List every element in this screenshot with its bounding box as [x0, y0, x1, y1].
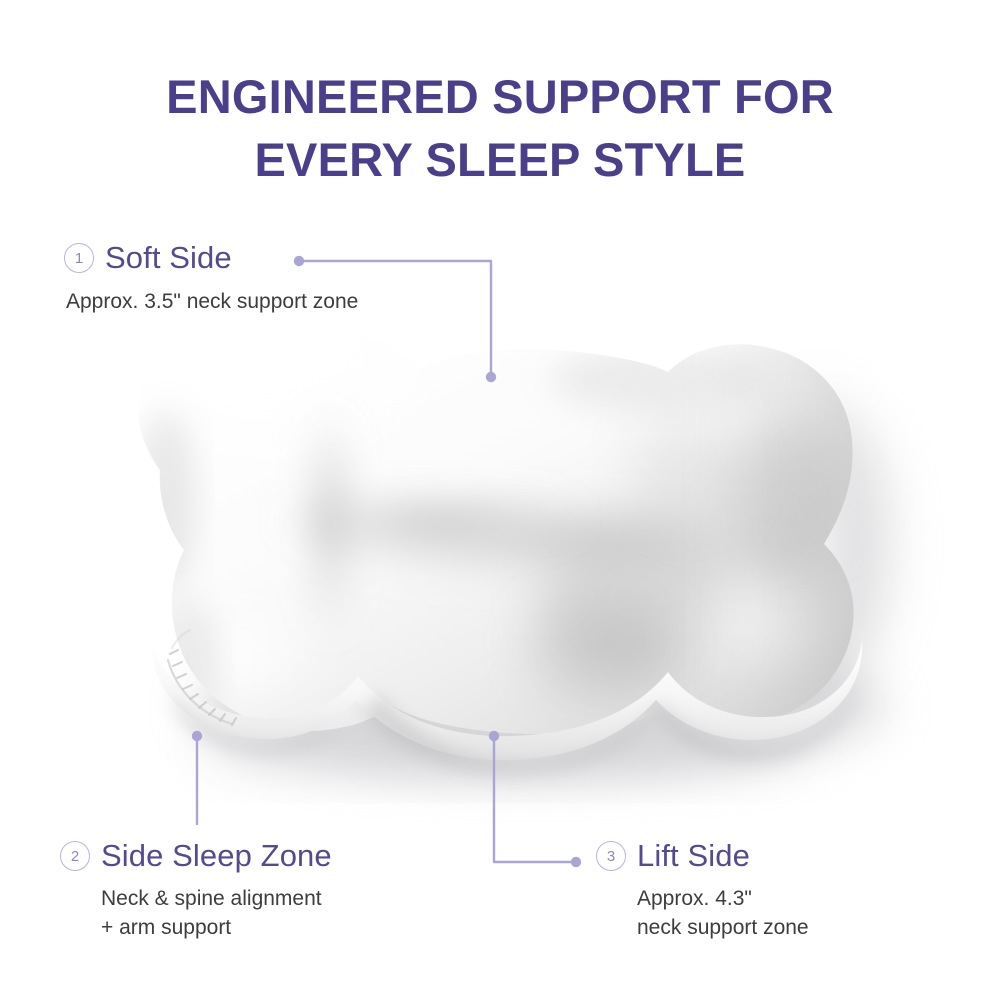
- callout-soft-side: 1 Soft Side Approx. 3.5" neck support zo…: [64, 240, 358, 317]
- callout-side-sleep-zone: 2 Side Sleep Zone Neck & spine alignment…: [60, 838, 332, 942]
- callout-3-heading: 3 Lift Side: [596, 838, 809, 874]
- callout-2-title: Side Sleep Zone: [101, 838, 332, 874]
- infographic-page: ENGINEERED SUPPORT FOR EVERY SLEEP STYLE: [0, 0, 1000, 1000]
- leader-line-3: [494, 736, 576, 862]
- callout-1-number: 1: [75, 251, 83, 266]
- pillow-seam-stitching: [168, 630, 232, 724]
- callout-2-heading: 2 Side Sleep Zone: [60, 838, 332, 874]
- callout-1-title: Soft Side: [105, 240, 232, 276]
- title-line-2: EVERY SLEEP STYLE: [0, 129, 1000, 192]
- callout-3-description: Approx. 4.3" neck support zone: [637, 885, 809, 942]
- pillow-stitch-ticks: [170, 650, 236, 725]
- callout-3-badge: 3: [596, 841, 626, 871]
- callout-3-title: Lift Side: [637, 838, 750, 874]
- callout-1-badge: 1: [64, 243, 94, 273]
- callout-2-desc-line-2: + arm support: [101, 914, 332, 943]
- leader-dot-2-target: [192, 731, 202, 741]
- pillow-front-lip: [152, 638, 862, 774]
- leader-dot-3-label: [571, 857, 581, 867]
- leader-dot-3-target: [489, 731, 499, 741]
- callout-1-desc-line-1: Approx. 3.5" neck support zone: [66, 288, 358, 317]
- callout-2-badge: 2: [60, 841, 90, 871]
- callout-1-description: Approx. 3.5" neck support zone: [66, 288, 358, 317]
- callout-3-desc-line-2: neck support zone: [637, 914, 809, 943]
- callout-2-desc-line-1: Neck & spine alignment: [101, 885, 332, 914]
- pillow-body: [120, 290, 900, 750]
- callout-lift-side: 3 Lift Side Approx. 4.3" neck support zo…: [596, 838, 809, 942]
- pillow-drop-shadow: [192, 400, 888, 778]
- callout-3-number: 3: [607, 849, 615, 864]
- callout-2-description: Neck & spine alignment + arm support: [101, 885, 332, 942]
- leader-dot-1-target: [486, 372, 496, 382]
- callout-2-number: 2: [71, 849, 79, 864]
- callout-3-desc-line-1: Approx. 4.3": [637, 885, 809, 914]
- callout-1-heading: 1 Soft Side: [64, 240, 358, 276]
- page-title: ENGINEERED SUPPORT FOR EVERY SLEEP STYLE: [0, 66, 1000, 192]
- title-line-1: ENGINEERED SUPPORT FOR: [0, 66, 1000, 129]
